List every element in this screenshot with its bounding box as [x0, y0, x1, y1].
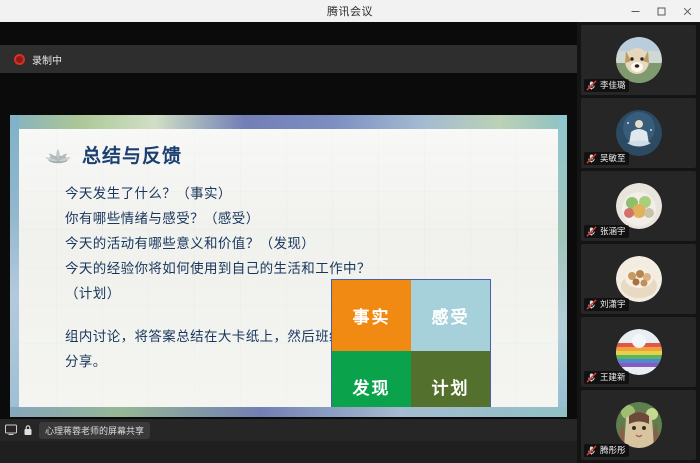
mic-off-icon: [586, 153, 597, 164]
slide-line-2: 你有哪些情绪与感受？（感受）: [65, 206, 375, 231]
four-quadrant-matrix: 事实 感受 发现 计划: [331, 279, 491, 407]
recording-label: 录制中: [32, 52, 62, 67]
slide-title-row: 总结与反馈: [43, 141, 182, 168]
participant-tile[interactable]: 刘潇宇: [581, 244, 696, 314]
shared-screen-stage[interactable]: 录制中: [0, 22, 577, 441]
matrix-cell-fact: 事实: [332, 280, 411, 351]
matrix-cell-finding: 发现: [332, 351, 411, 407]
slide-line-4: 今天的经验你将如何使用到自己的生活和工作中？（计划）: [65, 256, 375, 306]
mic-off-icon: [586, 80, 597, 91]
mic-off-icon: [586, 226, 597, 237]
participant-tile[interactable]: 腾彤彤: [581, 390, 696, 460]
lock-icon: [22, 424, 34, 436]
recording-bar: 录制中: [0, 45, 577, 73]
participant-name: 吴敏至: [600, 153, 626, 164]
avatar: [616, 183, 662, 229]
avatar: [616, 329, 662, 375]
slide-title: 总结与反馈: [82, 141, 182, 168]
mic-off-icon: [586, 372, 597, 383]
mic-off-icon: [586, 445, 597, 456]
participant-nametag: 李佳璐: [584, 79, 629, 92]
participant-tile[interactable]: 张涵宇: [581, 171, 696, 241]
maximize-button[interactable]: [648, 0, 674, 22]
slide-content: 总结与反馈 今天发生了什么？（事实） 你有哪些情绪与感受？（感受） 今天的活动有…: [19, 129, 558, 407]
share-status-chip: 心理蒋蓉老师的屏幕共享: [39, 422, 150, 439]
slide-line-3: 今天的活动有哪些意义和价值？（发现）: [65, 231, 375, 256]
participant-strip[interactable]: 李佳璐: [577, 22, 700, 463]
avatar: [616, 256, 662, 302]
presentation-slide: 总结与反馈 今天发生了什么？（事实） 你有哪些情绪与感受？（感受） 今天的活动有…: [10, 115, 567, 417]
matrix-cell-future: 计划: [411, 351, 490, 407]
slide-line-1: 今天发生了什么？（事实）: [65, 181, 375, 206]
participant-nametag: 张涵宇: [584, 225, 629, 238]
close-button[interactable]: [674, 0, 700, 22]
avatar: [616, 37, 662, 83]
participant-nametag: 刘潇宇: [584, 298, 629, 311]
slide-closing-text: 组内讨论，将答案总结在大卡纸上，然后班级展示分享。: [65, 324, 375, 374]
window-title: 腾讯会议: [327, 3, 373, 19]
participant-nametag: 王建新: [584, 371, 629, 384]
record-dot-icon: [14, 54, 25, 65]
screen-share-icon: [5, 424, 17, 436]
bottom-status-bar: 心理蒋蓉老师的屏幕共享: [0, 419, 577, 441]
avatar: [616, 402, 662, 448]
slide-right-band: [558, 115, 567, 417]
participant-tile[interactable]: 王建新: [581, 317, 696, 387]
minimize-button[interactable]: [622, 0, 648, 22]
participant-name: 张涵宇: [600, 226, 626, 237]
share-status-text: 心理蒋蓉老师的屏幕共享: [45, 424, 144, 437]
slide-bottom-band: [10, 407, 567, 417]
matrix-cell-feeling: 感受: [411, 280, 490, 351]
slide-top-band: [10, 115, 567, 129]
participant-name: 腾彤彤: [600, 445, 626, 456]
avatar: [616, 110, 662, 156]
slide-left-band: [10, 115, 19, 417]
participant-nametag: 吴敏至: [584, 152, 629, 165]
participant-tile[interactable]: 李佳璐: [581, 25, 696, 95]
mic-off-icon: [586, 299, 597, 310]
lotus-icon: [43, 143, 73, 167]
participant-name: 王建新: [600, 372, 626, 383]
slide-body-text: 今天发生了什么？（事实） 你有哪些情绪与感受？（感受） 今天的活动有哪些意义和价…: [65, 181, 375, 374]
spacer: [65, 306, 375, 324]
participant-name: 李佳璐: [600, 80, 626, 91]
title-bar: 腾讯会议: [0, 0, 700, 22]
window-controls: [622, 0, 700, 22]
participant-nametag: 腾彤彤: [584, 444, 629, 457]
tencent-meeting-window: 腾讯会议 录制中: [0, 0, 700, 463]
participant-name: 刘潇宇: [600, 299, 626, 310]
participant-tile[interactable]: 吴敏至: [581, 98, 696, 168]
